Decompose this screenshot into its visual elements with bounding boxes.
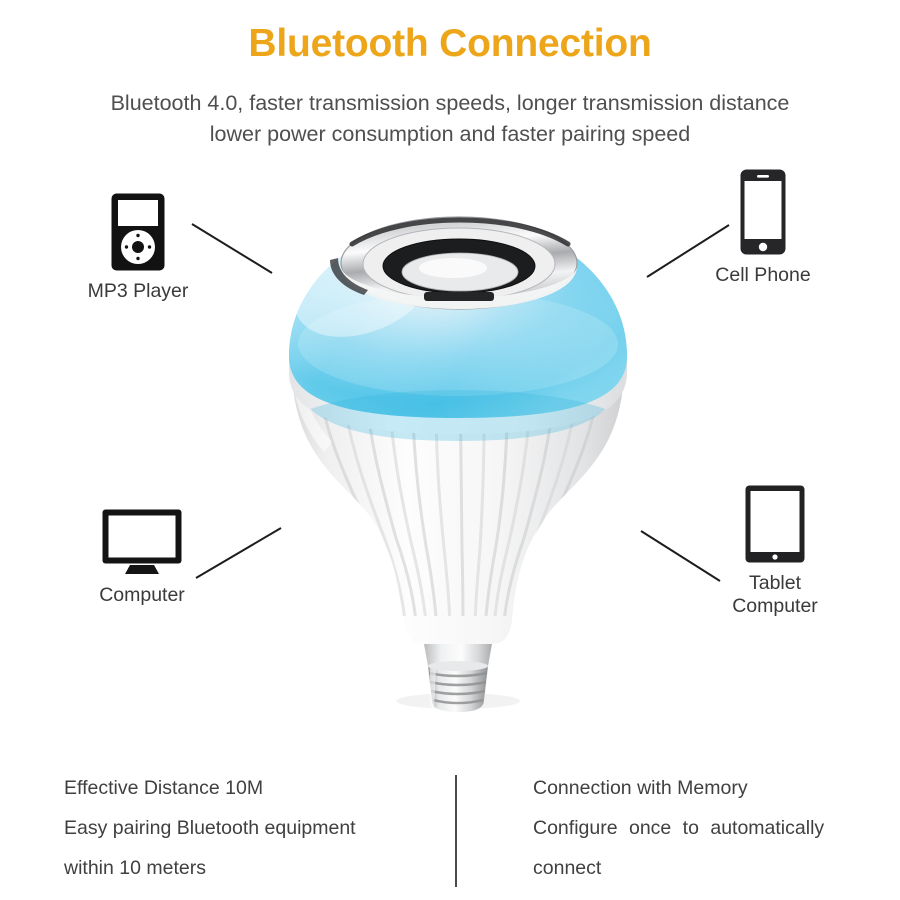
features-divider [455, 775, 457, 887]
page-subtitle: Bluetooth 4.0, faster transmission speed… [0, 88, 900, 150]
feature-right-line-1: Connection with Memory [533, 768, 873, 808]
feature-column-right: Connection with Memory Configure once to… [533, 768, 873, 888]
subtitle-line-2: lower power consumption and faster pairi… [0, 119, 900, 150]
feature-left-line-2: Easy pairing Bluetooth equipment [64, 808, 444, 848]
infographic-page: Bluetooth Connection Bluetooth 4.0, fast… [0, 0, 900, 900]
feature-column-left: Effective Distance 10M Easy pairing Blue… [64, 768, 444, 888]
device-node-cell-phone: Cell Phone [688, 168, 838, 287]
feature-left-line-1: Effective Distance 10M [64, 768, 444, 808]
cell-phone-icon-wrap [688, 168, 838, 256]
device-label-cell-phone: Cell Phone [688, 264, 838, 287]
feature-left-line-3: within 10 meters [64, 848, 444, 888]
feature-right-line-3: connect [533, 848, 873, 888]
device-label-tablet-computer: Tablet Computer [690, 572, 860, 618]
mp3-player-icon [110, 192, 166, 272]
bulb-screw-base [428, 661, 488, 712]
device-label-mp3-player: MP3 Player [58, 280, 218, 303]
product-image-bluetooth-bulb [272, 196, 644, 712]
mp3-player-icon-wrap [58, 192, 218, 272]
feature-right-line-2: Configure once to automatically [533, 808, 873, 848]
subtitle-line-1: Bluetooth 4.0, faster transmission speed… [0, 88, 900, 119]
computer-icon-wrap [62, 508, 222, 576]
device-node-mp3-player: MP3 Player [58, 192, 218, 303]
device-node-tablet-computer: Tablet Computer [690, 484, 860, 618]
cell-phone-icon [739, 168, 787, 256]
tablet-icon [744, 484, 806, 564]
device-node-computer: Computer [62, 508, 222, 607]
page-title: Bluetooth Connection [0, 22, 900, 66]
computer-icon [101, 508, 183, 576]
features-section: Effective Distance 10M Easy pairing Blue… [0, 768, 900, 888]
device-label-tablet-line-2: Computer [690, 595, 860, 618]
device-label-computer: Computer [62, 584, 222, 607]
tablet-icon-wrap [690, 484, 860, 564]
device-label-tablet-line-1: Tablet [690, 572, 860, 595]
